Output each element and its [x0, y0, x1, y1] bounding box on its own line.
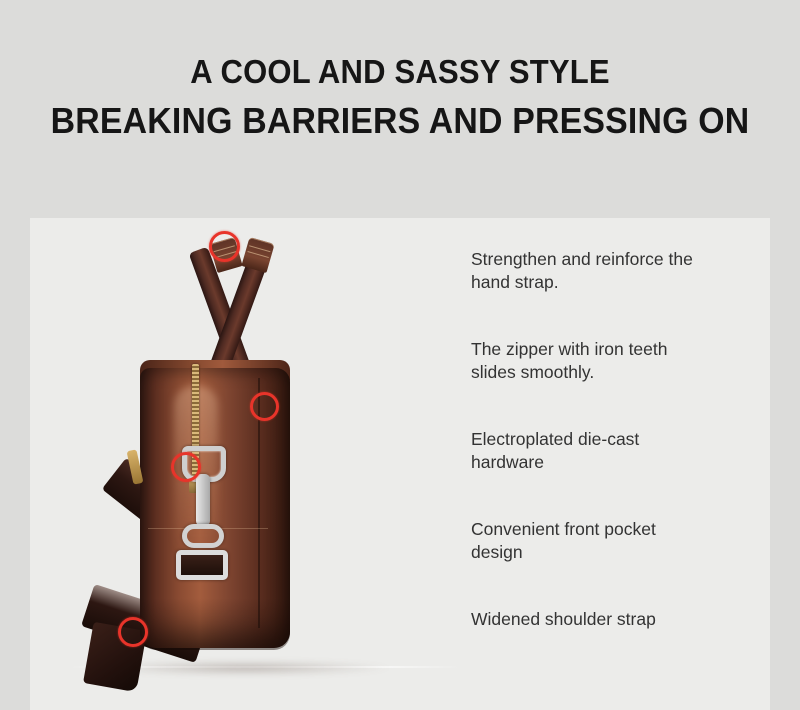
marker-hand-strap	[209, 231, 240, 262]
stitch-line	[247, 251, 268, 258]
feature-front-pocket: Convenient front pocket design	[471, 518, 706, 564]
marker-hardware	[171, 452, 201, 482]
feature-list: Strengthen and reinforce the hand strap.…	[471, 248, 751, 631]
marker-shoulder-strap	[118, 617, 148, 647]
headline-line-2: BREAKING BARRIERS AND PRESSING ON	[24, 99, 776, 143]
feature-zipper: The zipper with iron teeth slides smooth…	[471, 338, 706, 384]
marker-zipper	[250, 392, 279, 421]
page-title: A COOL AND SASSY STYLE BREAKING BARRIERS…	[0, 52, 800, 143]
headline-line-1: A COOL AND SASSY STYLE	[24, 52, 776, 92]
feature-hardware: Electroplated die-cast hardware	[471, 428, 706, 474]
feature-shoulder-strap: Widened shoulder strap	[471, 608, 706, 631]
feature-hand-strap: Strengthen and reinforce the hand strap.	[471, 248, 706, 294]
oval-ring-hardware	[182, 524, 224, 548]
bag-bottom-shading	[140, 598, 290, 650]
product-shadow	[100, 660, 390, 676]
slider-buckle-hardware	[176, 550, 228, 580]
snap-hook-hardware	[196, 474, 210, 526]
stitch-line	[249, 245, 270, 252]
